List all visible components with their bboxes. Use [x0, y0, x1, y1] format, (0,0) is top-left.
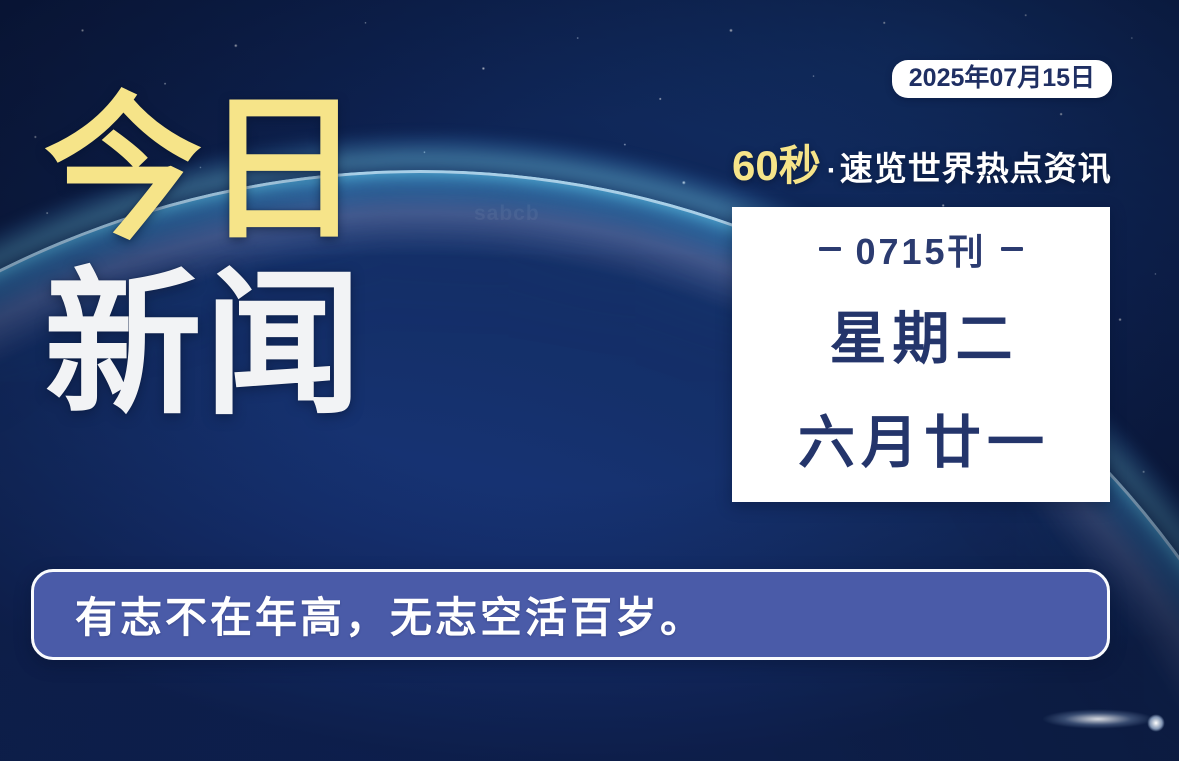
quote-bar: 有志不在年高，无志空活百岁。	[31, 569, 1110, 660]
lunar-date-label: 六月廿一	[792, 397, 1050, 479]
tagline: 60秒 · 速览世界热点资讯	[732, 132, 1112, 193]
info-card: 0715刊 星期二 六月廿一	[732, 207, 1110, 502]
news-poster: sabcb 今日 新闻 2025年07月15日 60秒 · 速览世界热点资讯 0…	[0, 0, 1179, 761]
tagline-seconds: 60秒	[732, 132, 821, 193]
page-title: 今日 新闻	[44, 96, 364, 419]
issue-number: 0715刊	[855, 223, 986, 275]
watermark-text: sabcb	[474, 202, 540, 226]
quote-text: 有志不在年高，无志空活百岁。	[34, 584, 705, 645]
page-title-line-2: 新闻	[44, 271, 364, 420]
tagline-slogan: 速览世界热点资讯	[840, 142, 1112, 190]
right-column: 2025年07月15日 60秒 · 速览世界热点资讯 0715刊 星期二 六月廿…	[732, 60, 1112, 502]
bright-star-icon	[1145, 712, 1167, 734]
dash-left-icon	[819, 247, 841, 251]
dash-right-icon	[1001, 247, 1023, 251]
page-title-line-1: 今日	[44, 96, 364, 245]
tagline-separator-icon: ·	[827, 154, 837, 188]
issue-number-row: 0715刊	[819, 223, 1022, 275]
weekday-label: 星期二	[824, 293, 1019, 375]
date-badge: 2025年07月15日	[892, 60, 1112, 98]
